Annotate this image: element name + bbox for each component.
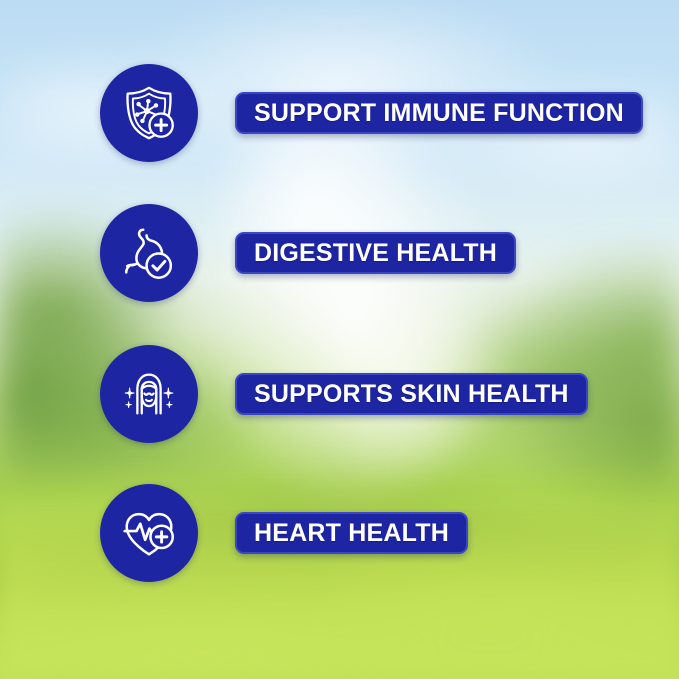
- benefits-infographic: SUPPORT IMMUNE FUNCTION DIGESTIVE HEALTH: [0, 0, 679, 679]
- benefit-label-immune: SUPPORT IMMUNE FUNCTION: [254, 101, 624, 126]
- benefit-pill-heart[interactable]: HEART HEALTH: [235, 512, 468, 554]
- benefit-label-skin: SUPPORTS SKIN HEALTH: [254, 382, 569, 407]
- benefit-icon-circle-skin: [100, 345, 198, 443]
- benefit-pill-immune[interactable]: SUPPORT IMMUNE FUNCTION: [235, 92, 643, 134]
- benefits-list: SUPPORT IMMUNE FUNCTION DIGESTIVE HEALTH: [0, 0, 679, 679]
- stomach-check-icon: [118, 222, 180, 284]
- benefit-pill-skin[interactable]: SUPPORTS SKIN HEALTH: [235, 373, 588, 415]
- heart-pulse-plus-icon: [118, 502, 180, 564]
- benefit-row-digestive: DIGESTIVE HEALTH: [0, 204, 679, 302]
- benefit-icon-circle-digestive: [100, 204, 198, 302]
- benefit-label-heart: HEART HEALTH: [254, 521, 449, 546]
- benefit-icon-circle-immune: [100, 64, 198, 162]
- benefit-row-skin: SUPPORTS SKIN HEALTH: [0, 345, 679, 443]
- benefit-row-immune: SUPPORT IMMUNE FUNCTION: [0, 64, 679, 162]
- face-sparkle-icon: [118, 363, 180, 425]
- benefit-icon-circle-heart: [100, 484, 198, 582]
- benefit-label-digestive: DIGESTIVE HEALTH: [254, 241, 497, 266]
- benefit-pill-digestive[interactable]: DIGESTIVE HEALTH: [235, 232, 516, 274]
- benefit-row-heart: HEART HEALTH: [0, 484, 679, 582]
- shield-molecule-plus-icon: [118, 82, 180, 144]
